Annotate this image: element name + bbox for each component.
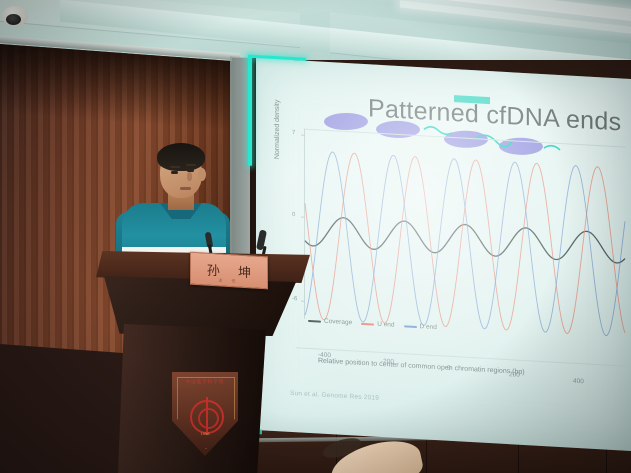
y-tick-label-1: 0 — [292, 212, 295, 218]
speaker-hair — [157, 143, 205, 171]
crest-top-text: 中国医学科学院 — [172, 379, 238, 385]
speaker-brow-right — [186, 164, 196, 166]
speaker-eye-left — [171, 171, 178, 174]
screen-cyan-edge — [248, 58, 252, 166]
speaker-nose — [187, 172, 192, 181]
nameplate: 孙 坤 主 任 — [190, 252, 268, 290]
legend-label-coverage: Coverage — [324, 318, 352, 327]
legend-label-dend: D end — [420, 323, 437, 331]
legend-swatch-uend — [361, 322, 374, 325]
legend-swatch-dend — [404, 325, 417, 328]
legend-label-uend: U end — [377, 321, 394, 329]
crest-logo-icon — [190, 400, 224, 434]
speaker-mouth — [180, 187, 191, 190]
presentation-photo: Patterned cfDNA ends 7 0 -6 Normalized d… — [0, 0, 631, 473]
y-axis-label: Normalized density — [274, 39, 281, 159]
x-tick-label-4: 400 — [573, 378, 584, 386]
speaker-ear — [198, 168, 206, 181]
speaker-brow-left — [170, 166, 180, 168]
y-tick-label-2: -6 — [292, 296, 297, 302]
y-tick-label-0: 7 — [292, 130, 295, 136]
chart-plot-area: 7 0 -6 — [304, 129, 625, 337]
dome-camera-icon — [2, 6, 28, 26]
projection-screen: Patterned cfDNA ends 7 0 -6 Normalized d… — [256, 58, 631, 451]
legend-swatch-coverage — [308, 319, 321, 322]
chart-curves — [305, 129, 625, 337]
